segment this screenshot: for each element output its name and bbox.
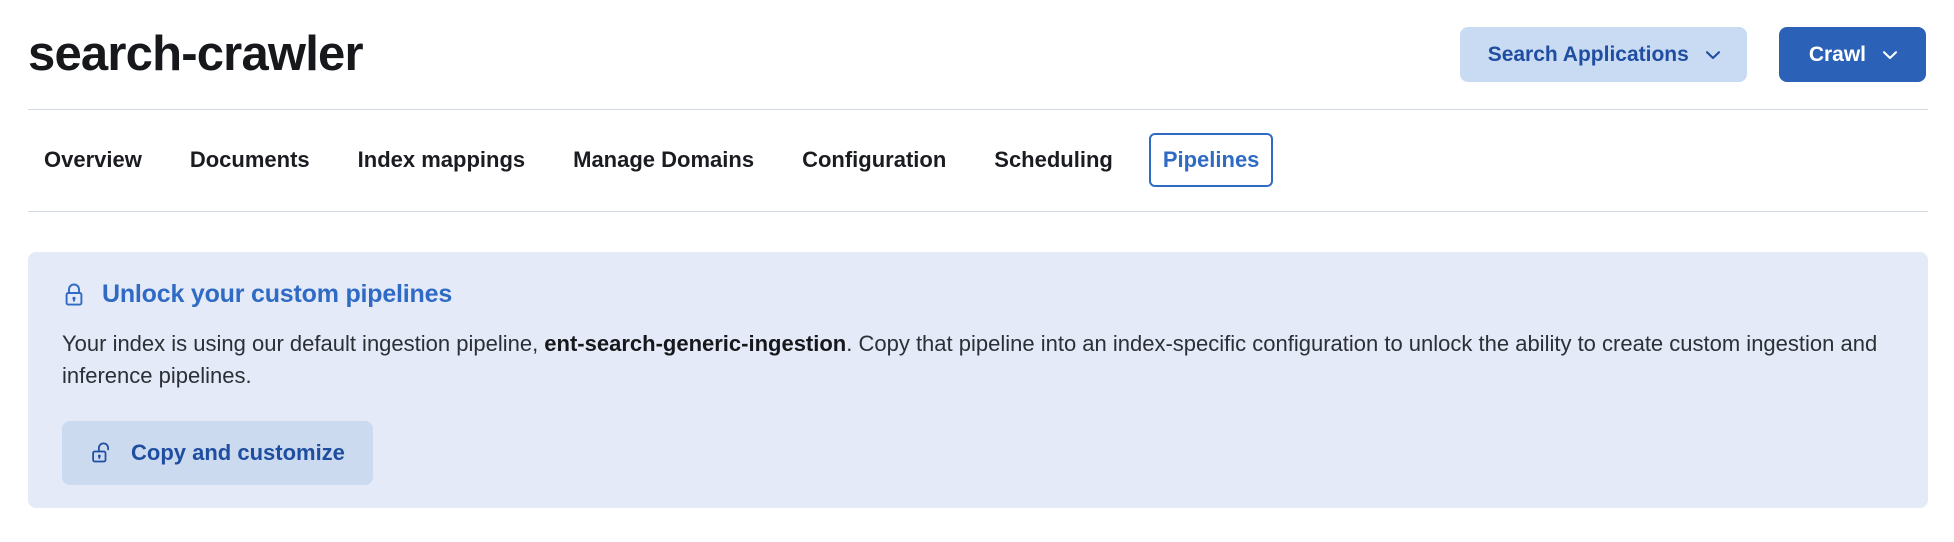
lock-open-icon <box>90 440 114 466</box>
callout-pipeline-name: ent-search-generic-ingestion <box>544 331 846 356</box>
callout-body-part-1: Your index is using our default ingestio… <box>62 331 544 356</box>
tab-pipelines[interactable]: Pipelines <box>1149 133 1274 187</box>
unlock-pipelines-callout: Unlock your custom pipelines Your index … <box>28 252 1928 508</box>
copy-and-customize-button[interactable]: Copy and customize <box>62 421 373 485</box>
lock-closed-icon <box>62 282 86 308</box>
callout-body: Your index is using our default ingestio… <box>62 328 1894 393</box>
tab-documents[interactable]: Documents <box>174 137 326 183</box>
callout-title-row: Unlock your custom pipelines <box>62 281 1894 309</box>
search-applications-button[interactable]: Search Applications <box>1460 27 1747 82</box>
callout-title: Unlock your custom pipelines <box>102 281 452 309</box>
tab-scheduling[interactable]: Scheduling <box>978 137 1129 183</box>
copy-and-customize-label: Copy and customize <box>131 442 345 464</box>
header-actions: Search Applications Crawl <box>1460 27 1926 82</box>
chevron-down-icon <box>1880 45 1900 65</box>
app-page: search-crawler Search Applications Crawl <box>0 0 1954 542</box>
tab-overview[interactable]: Overview <box>28 137 158 183</box>
crawl-button[interactable]: Crawl <box>1779 27 1926 82</box>
tab-configuration[interactable]: Configuration <box>786 137 962 183</box>
chevron-down-icon <box>1703 45 1723 65</box>
search-applications-label: Search Applications <box>1488 44 1689 65</box>
tab-bar: Overview Documents Index mappings Manage… <box>0 109 1954 211</box>
tab-index-mappings[interactable]: Index mappings <box>342 137 541 183</box>
page-header: search-crawler Search Applications Crawl <box>0 0 1954 109</box>
tab-manage-domains[interactable]: Manage Domains <box>557 137 770 183</box>
tab-bar-divider <box>28 211 1928 212</box>
crawl-label: Crawl <box>1809 44 1866 65</box>
page-title: search-crawler <box>28 29 363 80</box>
